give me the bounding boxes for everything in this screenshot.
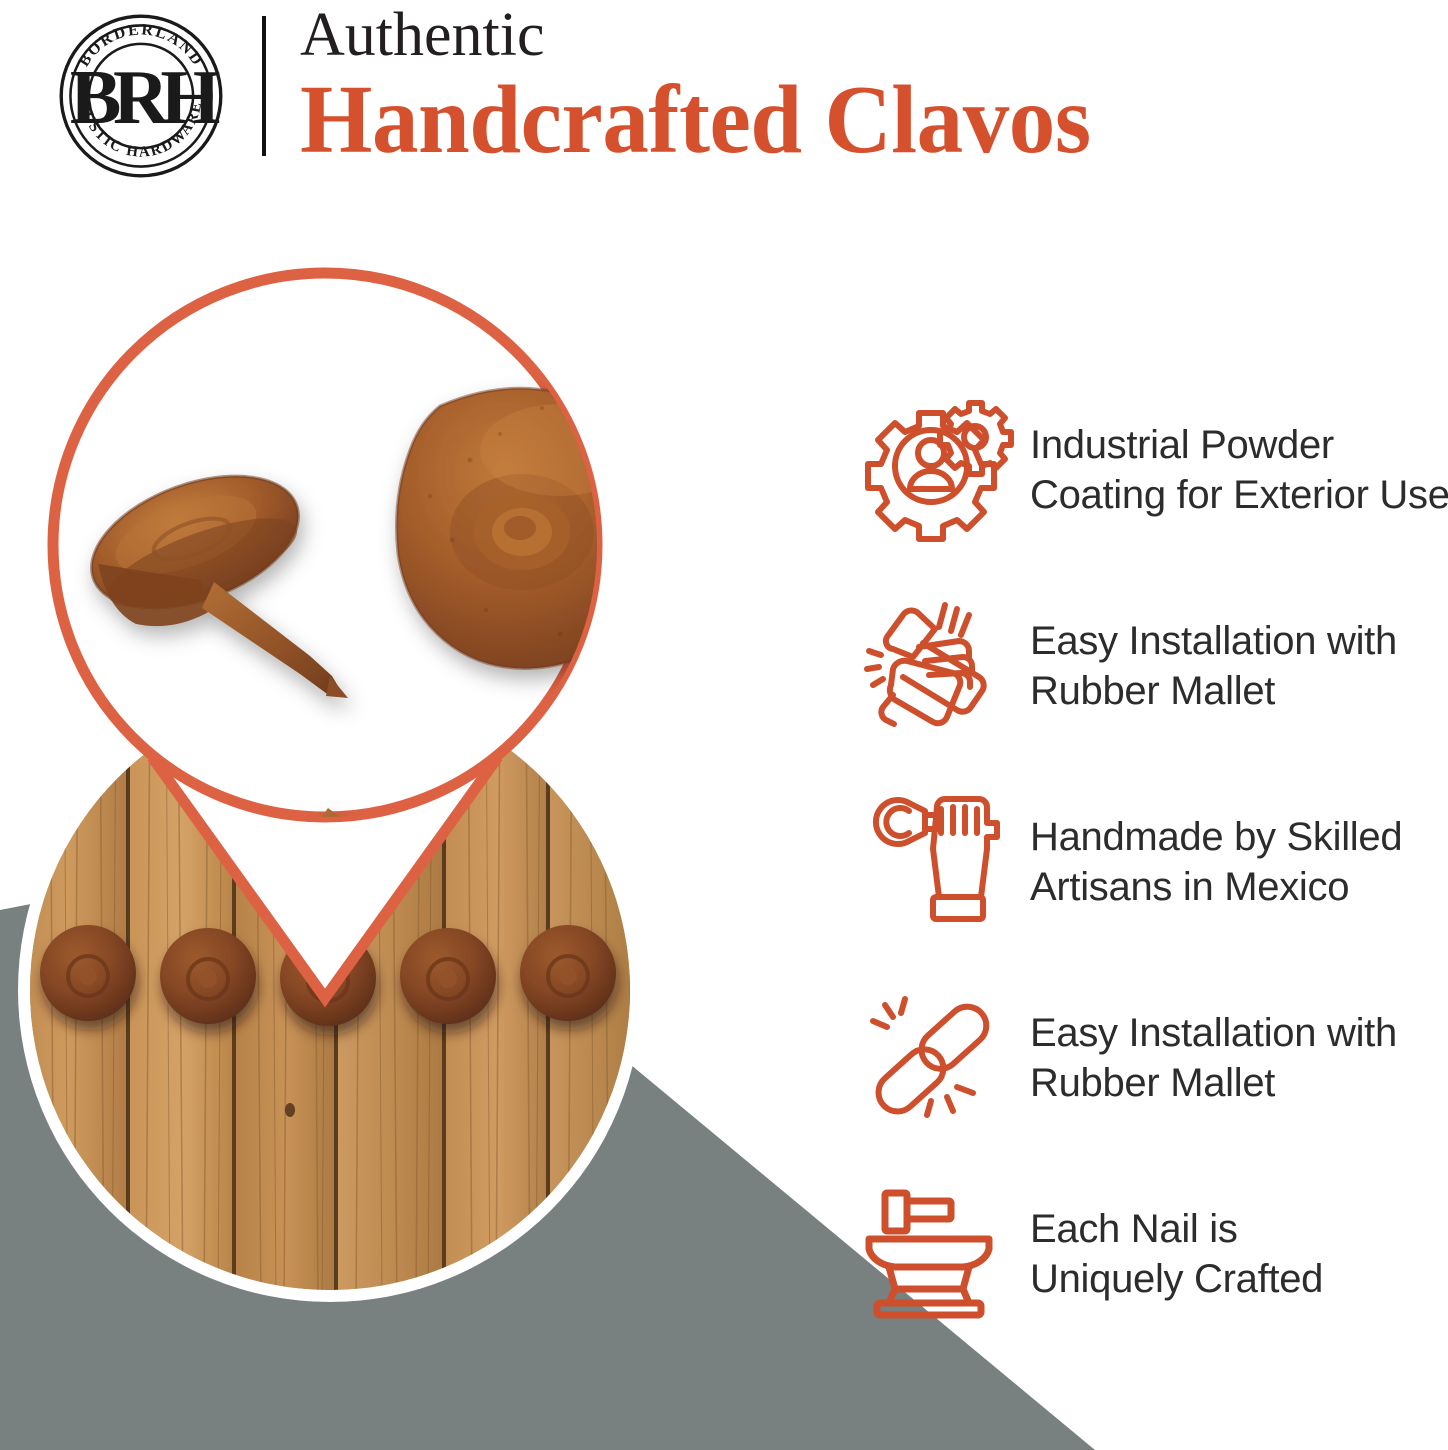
product-imagery-composition xyxy=(0,210,800,1450)
feature-label-line: Easy Installation with xyxy=(1030,616,1397,666)
svg-text:BRH: BRH xyxy=(70,54,220,140)
feature-label-line: Rubber Mallet xyxy=(1030,666,1397,716)
feature-label-line: Easy Installation with xyxy=(1030,1008,1397,1058)
feature-label: Industrial Powder Coating for Exterior U… xyxy=(1030,420,1448,520)
header-divider xyxy=(262,16,266,156)
feature-label-line: Rubber Mallet xyxy=(1030,1058,1397,1108)
hand-mallet-icon xyxy=(855,591,1030,741)
feature-label: Easy Installation with Rubber Mallet xyxy=(1030,616,1397,716)
page-title: Handcrafted Clavos xyxy=(300,68,1394,172)
clavo-top-view-head xyxy=(397,388,668,668)
feature-label-line: Coating for Exterior Use xyxy=(1030,470,1448,520)
chain-link-icon xyxy=(855,983,1030,1133)
feature-label-line: Each Nail is xyxy=(1030,1204,1323,1254)
feature-label-line: Uniquely Crafted xyxy=(1030,1254,1323,1304)
feature-label-line: Artisans in Mexico xyxy=(1030,862,1402,912)
hand-wrench-icon xyxy=(855,787,1030,937)
feature-label: Handmade by Skilled Artisans in Mexico xyxy=(1030,812,1402,912)
feature-label-line: Industrial Powder xyxy=(1030,420,1448,470)
anvil-hammer-icon xyxy=(855,1179,1030,1329)
feature-label-line: Handmade by Skilled xyxy=(1030,812,1402,862)
title-kicker: Authentic xyxy=(300,2,1440,68)
title-block: Authentic Handcrafted Clavos xyxy=(300,2,1440,172)
borderland-rustic-hardware-seal-logo: BORDERLAND RUSTIC HARDWARE BRH xyxy=(57,12,225,180)
feature-item: Handmade by Skilled Artisans in Mexico xyxy=(855,764,1448,960)
feature-item: Easy Installation with Rubber Mallet xyxy=(855,960,1448,1156)
gear-person-icon xyxy=(855,395,1030,545)
feature-label: Easy Installation with Rubber Mallet xyxy=(1030,1008,1397,1108)
feature-item: Industrial Powder Coating for Exterior U… xyxy=(855,372,1448,568)
feature-item: Easy Installation with Rubber Mallet xyxy=(855,568,1448,764)
infographic-page: BORDERLAND RUSTIC HARDWARE BRH Authentic… xyxy=(0,0,1448,1450)
page-header: BORDERLAND RUSTIC HARDWARE BRH Authentic… xyxy=(0,0,1448,190)
feature-item: Each Nail is Uniquely Crafted xyxy=(855,1156,1448,1352)
feature-label: Each Nail is Uniquely Crafted xyxy=(1030,1204,1323,1304)
feature-list: Industrial Powder Coating for Exterior U… xyxy=(855,372,1448,1352)
